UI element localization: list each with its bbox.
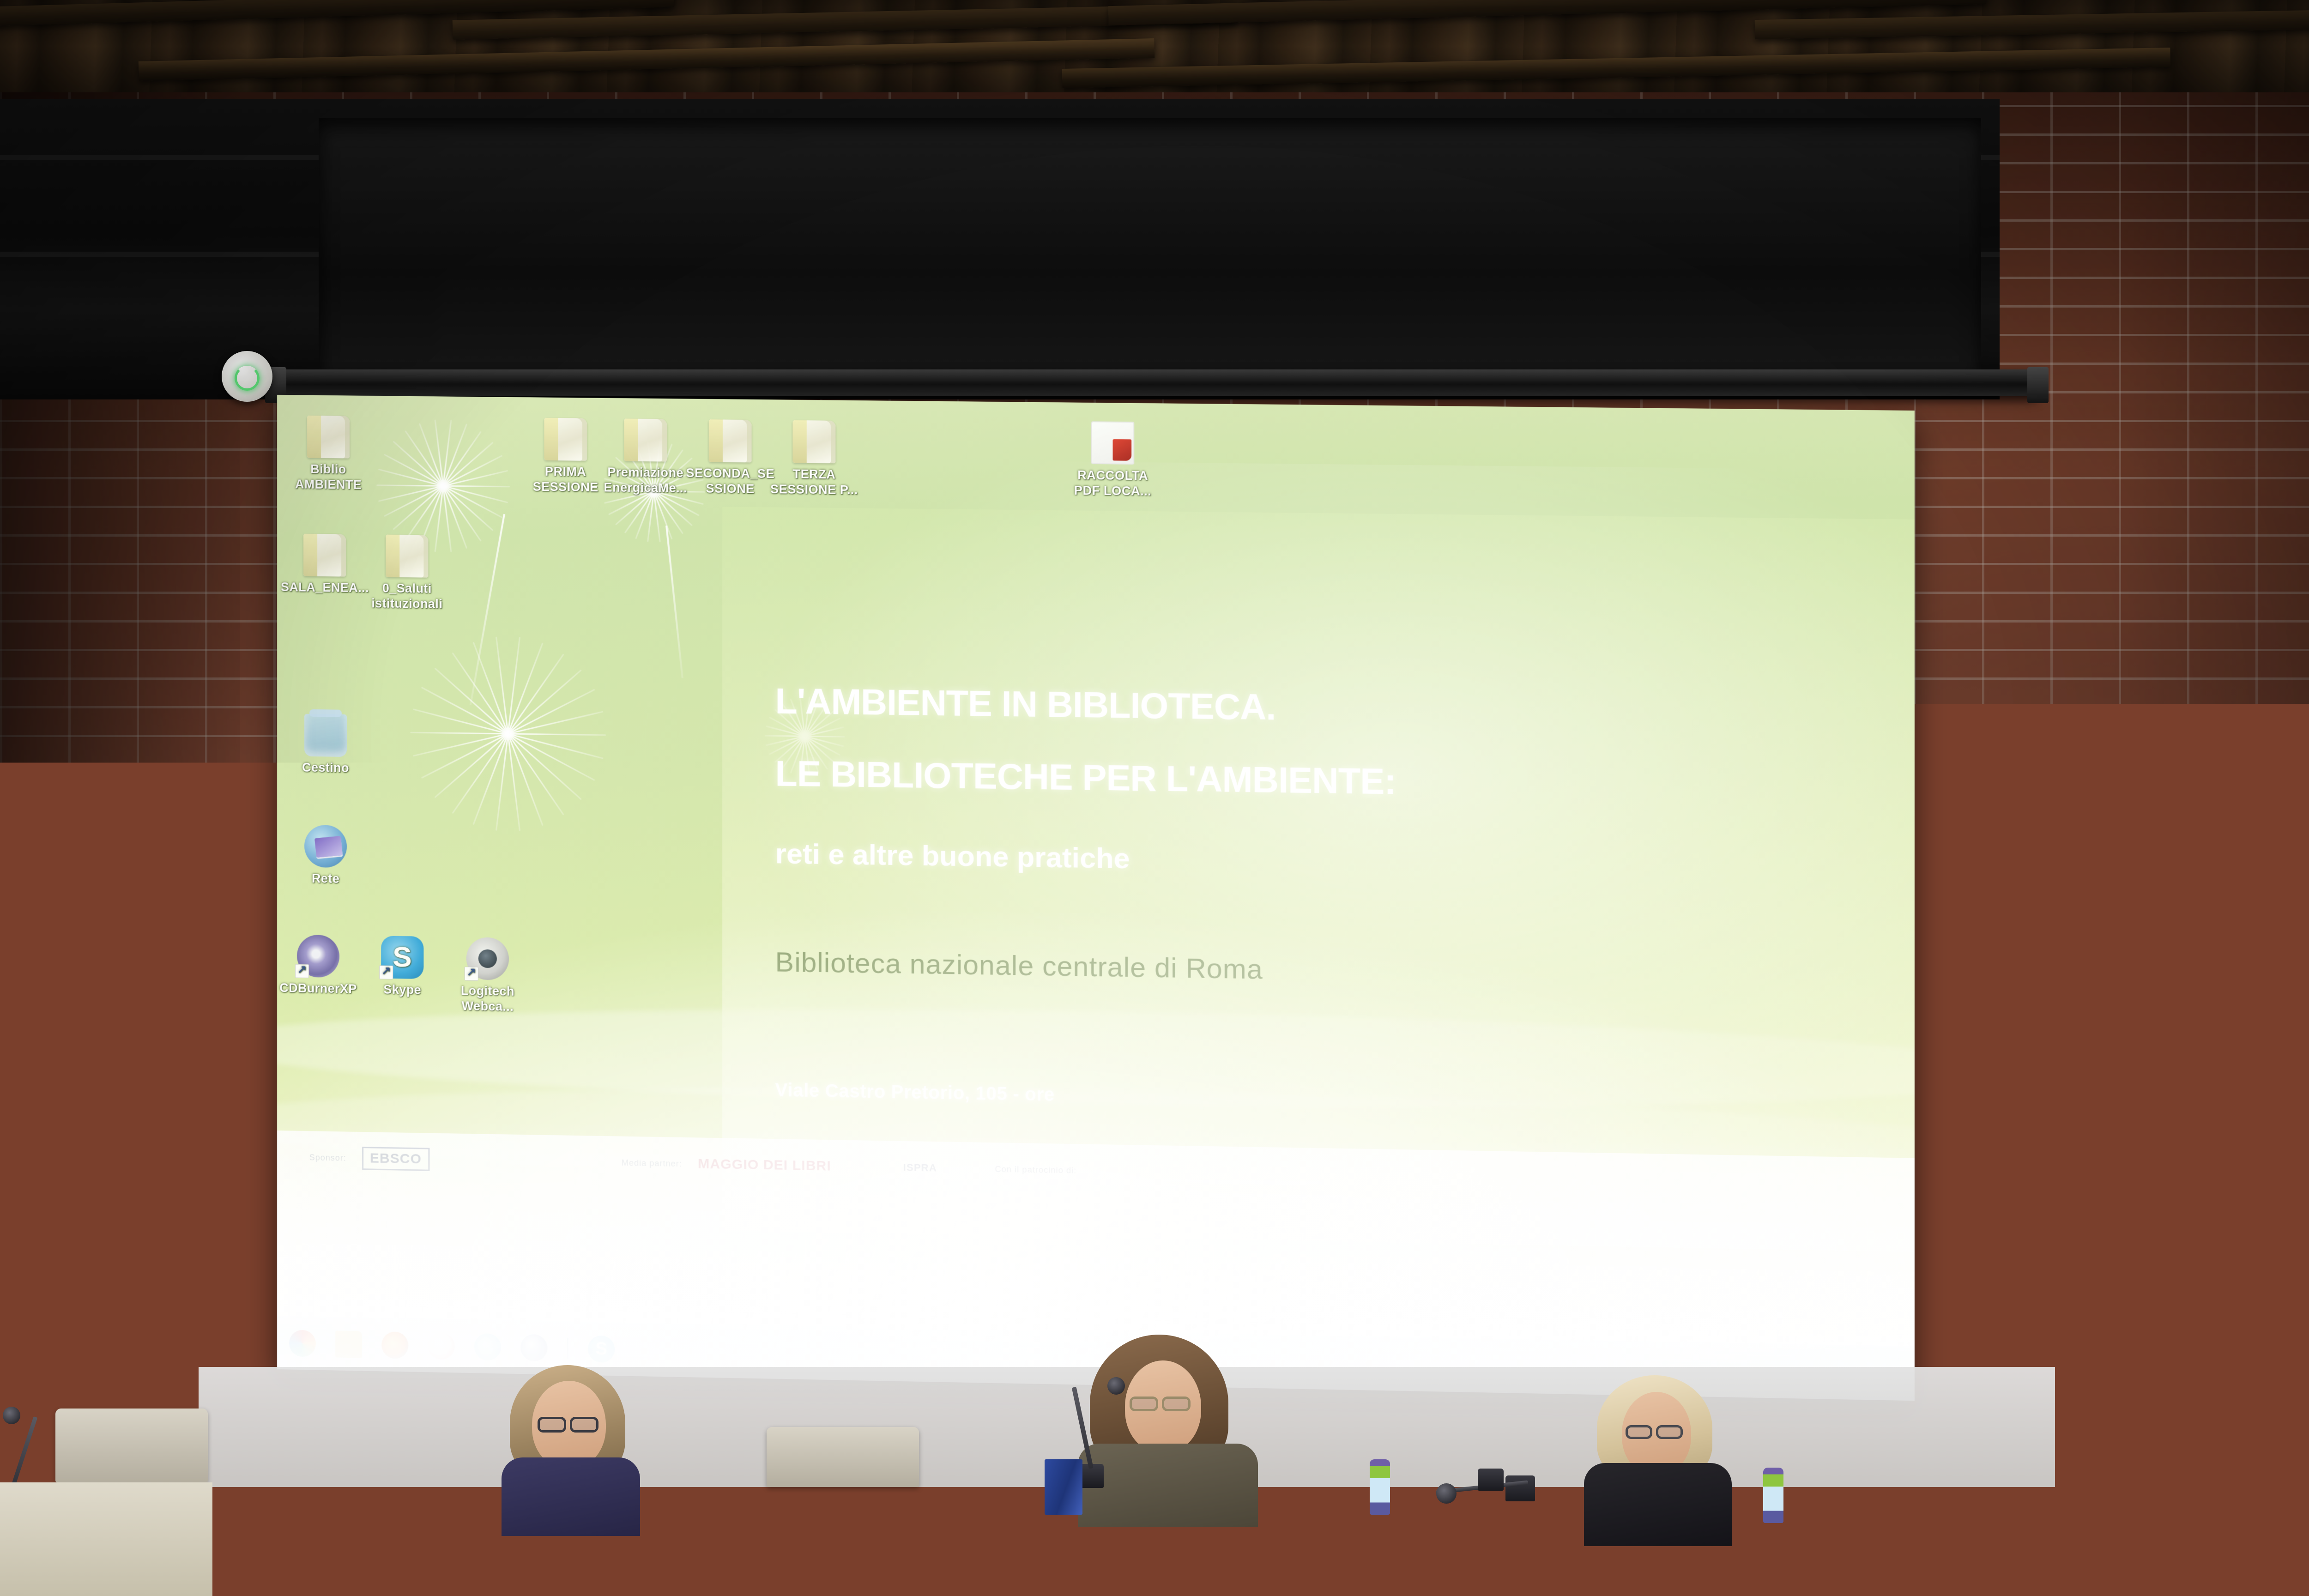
dandelion-seed xyxy=(2279,1285,2307,1294)
skype-icon: S xyxy=(381,936,423,979)
dandelion-seed xyxy=(2218,1250,2231,1284)
dandelion-seed xyxy=(624,491,654,534)
dandelion-seed xyxy=(378,485,443,502)
dandelion-seed xyxy=(2208,1381,2234,1404)
dandelion-seed xyxy=(2296,1258,2308,1286)
dandelion-seed xyxy=(377,484,443,487)
desktop-icon-saluti-istituzionali[interactable]: 0_Salutiistituzionali xyxy=(363,534,451,612)
dandelion-seed xyxy=(452,733,509,814)
dandelion-seed xyxy=(2208,1381,2221,1413)
dandelion-seed xyxy=(2306,1285,2309,1300)
dandelion-seed xyxy=(2209,1381,2242,1390)
dandelion-seed xyxy=(2199,1250,2231,1268)
dandelion-seed xyxy=(496,734,509,831)
dandelion-seed xyxy=(419,423,444,486)
projection-screen: BiblioAMBIENTE PRIMASESSIONE Premiazione… xyxy=(277,395,1889,1369)
shortcut-arrow-icon xyxy=(379,965,393,979)
desktop-icon-skype[interactable]: S Skype xyxy=(358,936,446,998)
dandelion-seed xyxy=(2306,1286,2309,1313)
sponsor-label-media-partner: Media partner: xyxy=(622,1158,682,1168)
dandelion-seed xyxy=(443,486,482,542)
dandelion-seed xyxy=(443,431,482,487)
dandelion-seed xyxy=(2307,1278,2309,1287)
dandelion-seed xyxy=(2279,1278,2307,1287)
dandelion-seed xyxy=(2278,1285,2307,1287)
dandelion-seed xyxy=(647,491,654,542)
dandelion-seed xyxy=(2230,1250,2265,1259)
wifi-status-led xyxy=(235,366,260,391)
oval-app-icon[interactable] xyxy=(520,1334,547,1361)
dandelion-seed xyxy=(443,470,508,487)
desktop-icon-terza-sessione[interactable]: TERZASESSIONE P... xyxy=(770,420,858,498)
folder-icon xyxy=(709,419,752,462)
banner-top-rail xyxy=(2150,1164,2309,1169)
dandelion-seed xyxy=(2204,1250,2231,1275)
nameplate-first-name: Emi xyxy=(1237,1488,1349,1502)
dandelion-seed xyxy=(2306,1272,2309,1287)
dandelion-seed xyxy=(2208,1354,2228,1382)
desktop-icon-label: SALA_ENEA... xyxy=(281,580,369,595)
dandelion-seed xyxy=(2303,1257,2307,1286)
dandelion-seed xyxy=(2230,1250,2257,1275)
dandelion-seed xyxy=(2306,1258,2309,1286)
desktop-icon-label: PRIMASESSIONE xyxy=(533,465,598,494)
desktop-icon-label: Cestino xyxy=(302,761,349,775)
dandelion-seed xyxy=(2285,1266,2307,1287)
dandelion-seed xyxy=(508,654,564,734)
wifi-access-point-icon xyxy=(222,351,272,402)
dandelion-seed xyxy=(2230,1227,2257,1251)
dandelion-seed xyxy=(508,670,582,735)
cd-burner-icon xyxy=(297,935,339,978)
folder-icon xyxy=(386,535,428,578)
dandelion-seed xyxy=(635,491,654,539)
dandelion-seed xyxy=(443,485,502,518)
conference-room-photo: BiblioAMBIENTE PRIMASESSIONE Premiazione… xyxy=(0,0,2309,1596)
dandelion-seed xyxy=(443,485,510,488)
dandelion-seed xyxy=(393,441,444,487)
dandelion-seed xyxy=(2208,1381,2238,1397)
dandelion-seed xyxy=(452,653,509,734)
dandelion-seed xyxy=(653,491,672,540)
dandelion-seed xyxy=(508,734,564,816)
dandelion-seed xyxy=(2209,1381,2242,1382)
dandelion-seed xyxy=(2230,1250,2244,1284)
desktop-icon-seconda-sessione[interactable]: SECONDA_SESSIONE xyxy=(686,419,774,497)
desktop-icon-cdburnerxp[interactable]: CDBurnerXP xyxy=(277,934,362,997)
dandelion-seed xyxy=(508,689,595,735)
dandelion-seed xyxy=(2208,1366,2238,1382)
dandelion-seed xyxy=(508,733,606,736)
dandelion-seed xyxy=(2199,1233,2231,1251)
dandelion-seed xyxy=(2230,1221,2251,1251)
dandelion-stem xyxy=(469,514,505,705)
dandelion-seed xyxy=(2281,1285,2307,1300)
desktop-icon-label: SECONDA_SESSIONE xyxy=(686,466,774,496)
dandelion-seed xyxy=(443,424,468,486)
desktop-icon-prima-sessione[interactable]: PRIMASESSIONE xyxy=(521,417,610,495)
desktop-icon-logitech-webcam[interactable]: LogitechWebca... xyxy=(444,937,532,1015)
dandelion-seed xyxy=(508,711,604,735)
nameplate-text: Enrica MANENTI xyxy=(1624,1493,1736,1521)
projection-screen-housing xyxy=(319,118,1981,376)
dandelion-seed xyxy=(421,687,508,734)
dandelion-seed xyxy=(615,491,654,526)
desktop-icon-sala-enea[interactable]: SALA_ENEA... xyxy=(281,533,369,596)
dandelion-graphic xyxy=(2174,1346,2243,1415)
desktop-icon-label: PremiazioneEnergicaMe... xyxy=(604,465,688,495)
stage-floor xyxy=(0,1427,2309,1482)
dandelion-seed xyxy=(2230,1241,2265,1251)
dandelion-seed xyxy=(508,643,544,734)
nameplate-first-name: Andrea xyxy=(857,1484,969,1497)
dandelion-seed xyxy=(2189,1381,2209,1409)
dandelion-seed xyxy=(2196,1350,2209,1382)
nameplate-last-name: MANENTI xyxy=(1653,1508,1706,1521)
skype-icon[interactable]: S xyxy=(588,1336,615,1363)
slide-venue: Biblioteca nazionale centrale di Roma xyxy=(775,946,1263,985)
start-orb-icon[interactable] xyxy=(289,1330,316,1357)
microphone-head xyxy=(3,1407,20,1424)
dandelion-seed xyxy=(443,485,508,503)
dandelion-seed xyxy=(2208,1359,2234,1382)
dandelion-logo-icon xyxy=(388,1483,446,1518)
nameplate-first-name: Raffaella xyxy=(450,1487,563,1501)
sponsor-logo-ebsco: EBSCO xyxy=(362,1147,429,1171)
desktop-icon-premiazione-energicamente[interactable]: PremiazioneEnergicaMe... xyxy=(601,418,689,496)
dandelion-seed xyxy=(2176,1381,2209,1390)
dandelion-seed xyxy=(2230,1250,2266,1251)
dandelion-stem xyxy=(665,526,683,678)
dandelion-seed xyxy=(508,637,521,734)
slide-subtitle: reti e altre buone pratiche xyxy=(775,837,1130,875)
dandelion-seed xyxy=(384,454,443,487)
glasses xyxy=(1162,1396,1191,1411)
nameplate-andrea-de-pasquale: Andrea DE PASQUALE xyxy=(783,1473,977,1523)
dandelion-seed xyxy=(2179,1381,2209,1397)
firefox-icon[interactable] xyxy=(381,1331,408,1359)
desktop-icon-label: TERZASESSIONE P... xyxy=(770,467,858,497)
dandelion-seed xyxy=(443,442,494,487)
dandelion-seed xyxy=(2230,1251,2236,1286)
internet-explorer-icon[interactable] xyxy=(474,1333,501,1360)
dandelion-logo-icon xyxy=(794,1479,852,1514)
dandelion-seed xyxy=(2303,1286,2307,1314)
dandelion-seed xyxy=(2230,1250,2251,1280)
desktop-icon-biblio-ambiente[interactable]: BiblioAMBIENTE xyxy=(284,415,372,493)
sponsor-logo-ispra: ISPRA xyxy=(903,1161,937,1174)
media-player-icon[interactable] xyxy=(428,1332,454,1360)
nameplate-enrica-manenti: Enrica MANENTI xyxy=(1550,1482,1744,1532)
glasses xyxy=(1130,1396,1158,1411)
sponsor-label-patrocinio: Con il patrocinio di: xyxy=(995,1164,1077,1175)
shortcut-arrow-icon xyxy=(465,967,478,981)
folder-icon xyxy=(544,418,587,461)
dandelion-seed xyxy=(2306,1257,2309,1286)
table-left-section xyxy=(0,1482,212,1596)
desktop-icon-label: 0_Salutiistituzionali xyxy=(371,581,442,611)
dandelion-seed xyxy=(2225,1215,2231,1251)
microphone-head xyxy=(1107,1377,1125,1395)
desktop-icon-label: RACCOLTAPDF LOCA... xyxy=(1074,468,1152,498)
recycle-bin-icon xyxy=(304,714,347,757)
dandelion-seed xyxy=(2306,1285,2309,1310)
dandelion-seed xyxy=(2208,1381,2228,1409)
nameplate-last-name: INGLESE xyxy=(480,1502,532,1515)
banner-line-1: L'AMBIENTE xyxy=(2274,1388,2309,1403)
dandelion-seed xyxy=(2210,1221,2231,1251)
dandelion-seed xyxy=(410,732,508,735)
screen-rail-cap-right xyxy=(2027,367,2049,403)
dandelion-seed xyxy=(2204,1348,2210,1382)
dandelion-seed xyxy=(508,734,544,826)
dandelion-seed xyxy=(2195,1250,2230,1251)
dandelion-seed xyxy=(653,491,693,526)
dandelion-seed xyxy=(435,420,444,486)
dandelion-seed xyxy=(2218,1217,2231,1251)
projected-desktop[interactable]: BiblioAMBIENTE PRIMASESSIONE Premiazione… xyxy=(277,395,1915,1401)
shortcut-arrow-icon xyxy=(295,964,309,978)
webcam-icon xyxy=(466,937,509,980)
dandelion-graphic xyxy=(2194,1213,2267,1287)
dandelion-seed xyxy=(2189,1354,2209,1382)
dandelion-seed xyxy=(443,455,502,486)
slide-title-line-2: LE BIBLIOTECHE PER L'AMBIENTE: xyxy=(775,754,1396,802)
table-right-section xyxy=(2041,1478,2309,1596)
dandelion-seed xyxy=(2290,1285,2307,1310)
nameplate-last-name: DE PASQUALE xyxy=(870,1499,955,1511)
dandelion-seed xyxy=(384,485,443,517)
dandelion-seed xyxy=(508,734,521,831)
nameplate-text: Andrea DE PASQUALE xyxy=(857,1484,969,1512)
dandelion-seed xyxy=(473,734,509,825)
presentation-slide[interactable]: L'AMBIENTE IN BIBLIOTECA. LE BIBLIOTECHE… xyxy=(722,507,1915,1252)
dandelion-seed xyxy=(442,420,452,486)
desktop-icon-rete[interactable]: Rete xyxy=(282,824,369,887)
banner-line-2: IN BIBLIOTECA. xyxy=(2274,1403,2309,1417)
dandelion-seed xyxy=(2230,1215,2236,1251)
dandelion-seed xyxy=(2209,1373,2242,1382)
dandelion-seed xyxy=(2306,1286,2309,1314)
folder-icon xyxy=(303,534,346,577)
dandelion-seed xyxy=(2230,1217,2244,1251)
dandelion-seed xyxy=(2196,1250,2230,1259)
dandelion-seed xyxy=(421,733,508,779)
dandelion-seed xyxy=(2204,1382,2210,1415)
folder-icon xyxy=(624,418,667,461)
taskbar-separator xyxy=(567,1338,568,1359)
folder-icon xyxy=(307,416,350,459)
dandelion-seed xyxy=(413,709,508,735)
dandelion-seed xyxy=(405,430,444,486)
network-icon xyxy=(304,825,347,868)
dandelion-seed xyxy=(2290,1262,2307,1286)
dandelion-logo-icon xyxy=(1174,1484,1233,1519)
dandelion-seed xyxy=(2208,1382,2213,1415)
dandelion-seed xyxy=(653,491,660,542)
dandelion-seed xyxy=(2285,1285,2307,1306)
dandelion-seed xyxy=(508,733,595,781)
file-explorer-icon[interactable] xyxy=(335,1330,362,1358)
desktop-icon-label: Skype xyxy=(383,983,421,997)
dandelion-seed xyxy=(413,733,508,757)
dandelion-seed xyxy=(2208,1348,2213,1382)
dandelion-seed xyxy=(2230,1250,2262,1268)
nameplate-emi-morroni: Emi MORRONI xyxy=(1163,1478,1357,1528)
nameplate-last-name: MORRONI xyxy=(1264,1503,1321,1516)
screen-top-rail xyxy=(272,369,2037,396)
dandelion-seed xyxy=(2183,1381,2209,1404)
dandelion-seed xyxy=(2204,1227,2231,1251)
dandelion-seed xyxy=(2208,1350,2221,1382)
nameplate-text: Raffaella INGLESE xyxy=(450,1487,563,1516)
folder-icon xyxy=(792,420,835,463)
dandelion-seed xyxy=(2281,1272,2307,1287)
dandelion-graphic xyxy=(2277,1255,2309,1315)
dandelion-seed xyxy=(653,491,684,535)
desktop-icon-raccolta-pdf-locali[interactable]: RACCOLTAPDF LOCA... xyxy=(1068,421,1157,499)
slide-title-line-1: L'AMBIENTE IN BIBLIOTECA. xyxy=(775,681,1276,727)
dandelion-seed xyxy=(508,733,604,759)
desktop-icon-label: BiblioAMBIENTE xyxy=(295,462,362,492)
dandelion-seed xyxy=(2176,1373,2209,1382)
dandelion-graphic-large xyxy=(406,630,610,837)
desktop-icon-cestino[interactable]: Cestino xyxy=(282,713,369,776)
dandelion-seed xyxy=(508,733,582,800)
dandelion-seed xyxy=(2183,1359,2209,1382)
nameplate-first-name: Enrica xyxy=(1624,1493,1736,1506)
sponsor-logo-band: Sponsor: EBSCO Media partner: MAGGIO DEI… xyxy=(277,1130,1915,1346)
desktop-icon-label: LogitechWebca... xyxy=(461,984,514,1014)
dandelion-seed xyxy=(2306,1262,2309,1286)
desktop-icon-label: CDBurnerXP xyxy=(279,981,357,996)
dandelion-seed xyxy=(2225,1251,2231,1286)
dandelion-logo-icon xyxy=(1561,1488,1620,1523)
dandelion-seed xyxy=(2210,1250,2231,1280)
dandelion-seed xyxy=(2307,1285,2309,1287)
dandelion-seed xyxy=(393,485,444,530)
dandelion-seed xyxy=(2176,1381,2209,1382)
dandelion-seed xyxy=(435,733,509,798)
dandelion-seed xyxy=(2196,1241,2230,1251)
nameplate-text: Emi MORRONI xyxy=(1237,1488,1349,1517)
slide-date-address: Viale Castro Pretorio, 105 - ore xyxy=(775,1080,1055,1105)
nameplate-raffaella-inglese: Raffaella INGLESE xyxy=(376,1477,570,1527)
desktop-icon-label: Rete xyxy=(312,871,339,886)
dandelion-seed xyxy=(2230,1233,2262,1251)
dandelion-seed xyxy=(378,469,443,487)
dandelion-seed xyxy=(2296,1286,2308,1313)
dandelion-seed xyxy=(443,485,494,531)
dandelion-seed xyxy=(2179,1366,2209,1382)
sponsor-logo-maggio-dei-libri: MAGGIO DEI LIBRI xyxy=(698,1156,831,1174)
dandelion-seed xyxy=(2196,1381,2209,1413)
sponsor-label-sponsor: Sponsor: xyxy=(309,1153,346,1163)
dandelion-seed xyxy=(405,486,444,541)
dandelion-seed xyxy=(496,637,509,734)
dandelion-seed xyxy=(2306,1285,2309,1306)
pdf-icon xyxy=(1091,421,1135,465)
dandelion-seed xyxy=(2306,1266,2309,1287)
dandelion-seed xyxy=(2307,1285,2309,1294)
